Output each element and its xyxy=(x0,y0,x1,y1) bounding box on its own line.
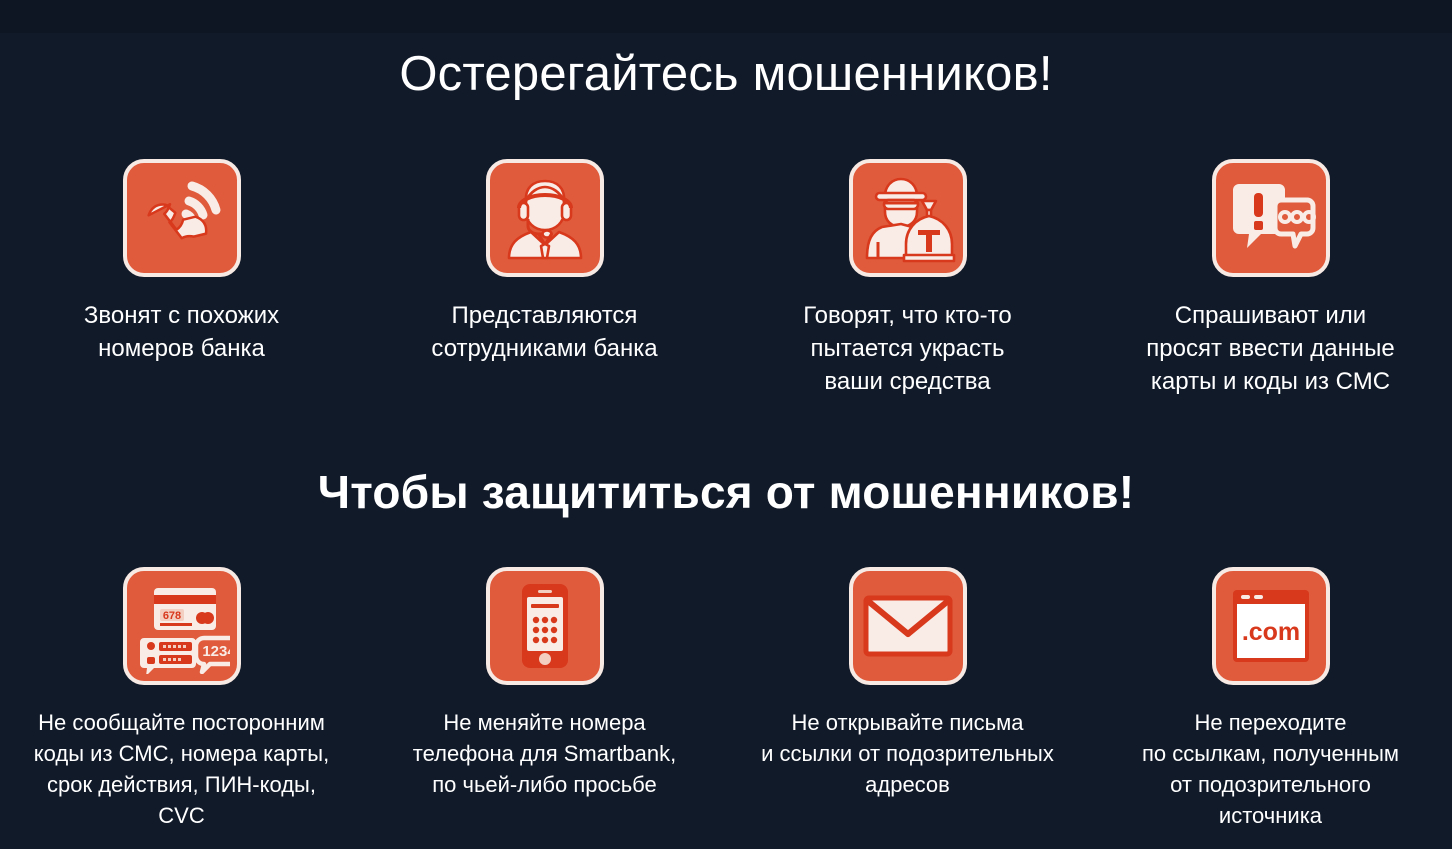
mobile-phone-keypad-tile xyxy=(486,567,604,685)
caption-line: номеров банка xyxy=(84,332,279,365)
call-center-operator-icon xyxy=(497,170,593,266)
icon-tile-wrap xyxy=(1212,159,1330,277)
caption-line: от подозрительного xyxy=(1142,769,1399,800)
caption-line: пытается украсть xyxy=(803,332,1011,365)
ringing-phone-tile xyxy=(123,159,241,277)
caption-line: Говорят, что кто-то xyxy=(803,299,1011,332)
domain-text: .com xyxy=(1241,618,1299,646)
caption-line: по ссылкам, полученным xyxy=(1142,738,1399,769)
caption-line: и ссылки от подозрительных xyxy=(761,738,1054,769)
caption-never-share-codes: Не сообщайте посторонним коды из СМС, но… xyxy=(34,707,329,831)
caption-ask-card-data: Спрашивают или просят ввести данные карт… xyxy=(1146,299,1394,398)
caption-fake-employee: Представляются сотрудниками банка xyxy=(431,299,657,365)
browser-window-dot-com-tile: .com xyxy=(1212,567,1330,685)
chat-bubbles-alert-tile xyxy=(1212,159,1330,277)
sms-code-text: 1234 xyxy=(202,643,230,660)
mobile-phone-keypad-icon xyxy=(497,578,593,674)
beware-items-row: Звонят с похожих номеров банка xyxy=(0,135,1452,398)
protect-item-dont-follow-links: .com Не переходите по ссылкам, полученны… xyxy=(1089,567,1452,831)
icon-tile-wrap: .com xyxy=(1212,567,1330,685)
caption-steal-funds: Говорят, что кто-то пытается украсть ваш… xyxy=(803,299,1011,398)
caption-line: Не сообщайте посторонним xyxy=(34,707,329,738)
beware-item-steal-funds: Говорят, что кто-то пытается украсть ваш… xyxy=(726,159,1089,398)
caption-line: Звонят с похожих xyxy=(84,299,279,332)
bank-card-sms-codes-tile: 678 xyxy=(123,567,241,685)
caption-line: телефона для Smartbank, xyxy=(413,738,676,769)
chat-bubbles-alert-icon xyxy=(1223,170,1319,266)
caption-calls: Звонят с похожих номеров банка xyxy=(84,299,279,365)
caption-line: Не открывайте письма xyxy=(761,707,1054,738)
page-title-beware: Остерегайтесь мошенников! xyxy=(0,33,1452,102)
protect-item-dont-change-number: Не меняйте номера телефона для Smartbank… xyxy=(363,567,726,831)
thief-with-money-bag-icon xyxy=(860,170,956,266)
caption-line: коды из СМС, номера карты, xyxy=(34,738,329,769)
call-center-operator-tile xyxy=(486,159,604,277)
caption-line: Не меняйте номера xyxy=(413,707,676,738)
browser-window-dot-com-icon: .com xyxy=(1223,578,1319,674)
caption-line: по чьей-либо просьбе xyxy=(413,769,676,800)
icon-tile-wrap xyxy=(849,159,967,277)
section-spacer xyxy=(0,398,1452,436)
caption-line: адресов xyxy=(761,769,1054,800)
protect-item-dont-open-mail: Не открывайте письма и ссылки от подозри… xyxy=(726,567,1089,831)
icon-tile-wrap xyxy=(486,567,604,685)
caption-dont-change-number: Не меняйте номера телефона для Smartbank… xyxy=(413,707,676,800)
protect-item-never-share-codes: 678 xyxy=(0,567,363,831)
caption-dont-open-mail: Не открывайте письма и ссылки от подозри… xyxy=(761,707,1054,800)
icon-tile-wrap xyxy=(486,159,604,277)
bank-card-sms-codes-icon: 678 xyxy=(134,578,230,674)
caption-line: Представляются xyxy=(431,299,657,332)
thief-with-money-bag-tile xyxy=(849,159,967,277)
page-title-protect: Чтобы защититься от мошенников! xyxy=(0,466,1452,518)
caption-line: ваши средства xyxy=(803,365,1011,398)
caption-line: карты и коды из СМС xyxy=(1146,365,1394,398)
icon-tile-wrap xyxy=(849,567,967,685)
icon-tile-wrap xyxy=(123,159,241,277)
envelope-mail-icon xyxy=(860,578,956,674)
fraud-awareness-slide: Остерегайтесь мошенников! xyxy=(0,33,1452,849)
beware-item-ask-card-data: Спрашивают или просят ввести данные карт… xyxy=(1089,159,1452,398)
ringing-phone-icon xyxy=(134,170,230,266)
card-number-text: 678 xyxy=(162,610,180,622)
caption-line: просят ввести данные xyxy=(1146,332,1394,365)
icon-tile-wrap: 678 xyxy=(123,567,241,685)
beware-item-fake-employee: Представляются сотрудниками банка xyxy=(363,159,726,398)
beware-item-calls: Звонят с похожих номеров банка xyxy=(0,159,363,398)
caption-dont-follow-links: Не переходите по ссылкам, полученным от … xyxy=(1142,707,1399,831)
caption-line: Спрашивают или xyxy=(1146,299,1394,332)
caption-line: срок действия, ПИН-коды, xyxy=(34,769,329,800)
envelope-mail-tile xyxy=(849,567,967,685)
caption-line: Не переходите xyxy=(1142,707,1399,738)
caption-line: сотрудниками банка xyxy=(431,332,657,365)
protect-items-row: 678 xyxy=(0,549,1452,831)
